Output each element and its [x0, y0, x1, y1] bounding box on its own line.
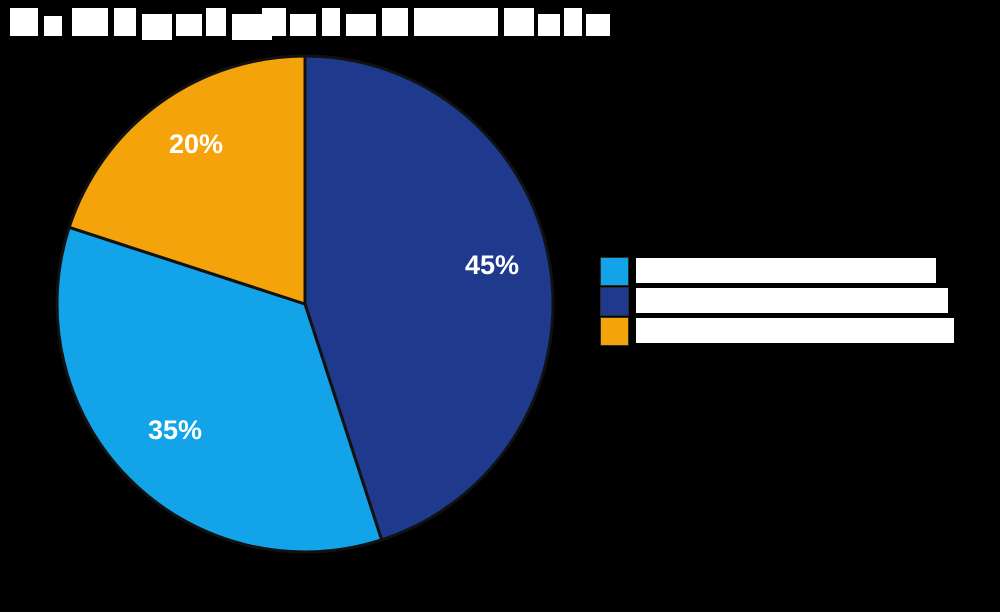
legend-swatch-orange-icon [600, 317, 629, 346]
legend-item-1[interactable] [596, 286, 956, 316]
legend-label-redaction-1 [636, 288, 948, 313]
navy-slice-label: 45% [465, 250, 519, 280]
legend-item-2[interactable] [596, 316, 956, 346]
chart-legend [596, 252, 956, 354]
legend-label-redaction-0 [636, 258, 936, 283]
legend-swatch-navy-icon [600, 287, 629, 316]
legend-item-0[interactable] [596, 256, 956, 286]
light-blue-slice-label: 35% [148, 415, 202, 445]
orange-slice-label: 20% [169, 129, 223, 159]
legend-swatch-light-blue-icon [600, 257, 629, 286]
legend-label-redaction-2 [636, 318, 954, 343]
pie-slice-group [57, 56, 553, 552]
